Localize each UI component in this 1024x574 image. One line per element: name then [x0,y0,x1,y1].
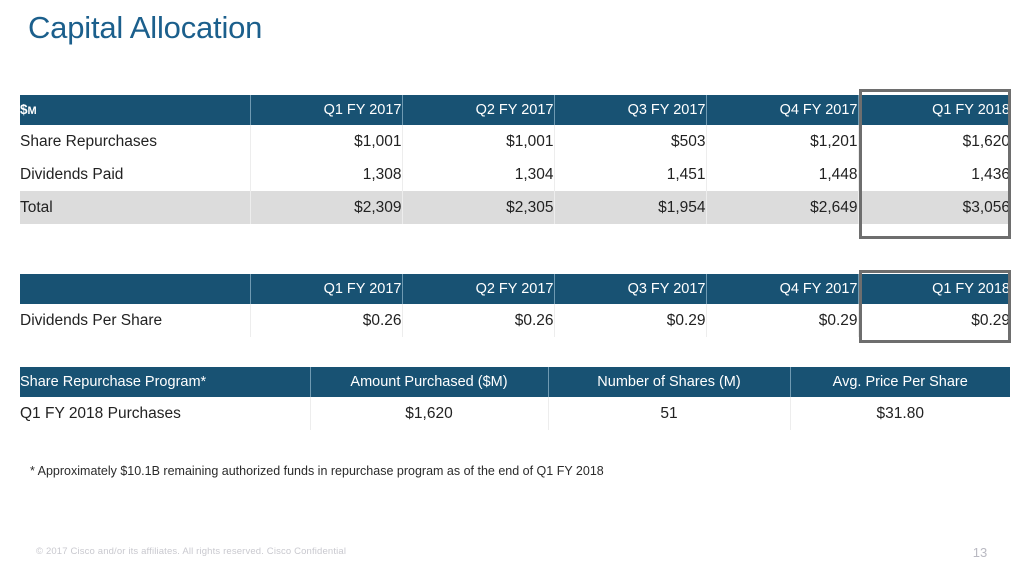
row-label-total: Total [20,191,250,224]
column-header-dps-q3-fy-2017: Q3 FY 2017 [554,274,706,304]
unit-currency: $ [20,102,28,117]
column-header-dps-q2-fy-2017: Q2 FY 2017 [402,274,554,304]
footnote-text: * Approximately $10.1B remaining authori… [30,464,604,478]
column-header-number-of-shares: Number of Shares (M) [548,367,790,397]
cell-share-repurchases-q1-fy-2018: $1,620 [858,125,1010,158]
footer-copyright: © 2017 Cisco and/or its affiliates. All … [36,546,346,557]
row-label-dividends-per-share: Dividends Per Share [20,304,250,337]
share-repurchase-program-table: Share Repurchase Program* Amount Purchas… [20,367,1010,430]
column-header-avg-price-per-share: Avg. Price Per Share [790,367,1010,397]
page-title: Capital Allocation [28,8,262,48]
column-header-share-repurchase-program: Share Repurchase Program* [20,367,310,397]
table-row: Dividends Per Share $0.26 $0.26 $0.29 $0… [20,304,1010,337]
slide-canvas: Capital Allocation $M Q1 FY 2017 Q2 FY 2… [0,0,1024,574]
cell-dps-q1-fy-2018: $0.29 [858,304,1010,337]
column-header-dps-q1-fy-2018: Q1 FY 2018 [858,274,1010,304]
cell-total-q3-fy-2017: $1,954 [554,191,706,224]
column-header-q2-fy-2017: Q2 FY 2017 [402,95,554,125]
cell-share-repurchases-q2-fy-2017: $1,001 [402,125,554,158]
row-label-share-repurchases: Share Repurchases [20,125,250,158]
table-row: Share Repurchases $1,001 $1,001 $503 $1,… [20,125,1010,158]
table-header-row: Share Repurchase Program* Amount Purchas… [20,367,1010,397]
table-row: Dividends Paid 1,308 1,304 1,451 1,448 1… [20,158,1010,191]
cell-total-q2-fy-2017: $2,305 [402,191,554,224]
cell-amount-purchased: $1,620 [310,397,548,430]
cell-total-q1-fy-2017: $2,309 [250,191,402,224]
table-header-row: Q1 FY 2017 Q2 FY 2017 Q3 FY 2017 Q4 FY 2… [20,274,1010,304]
cell-dividends-paid-q1-fy-2018: 1,436 [858,158,1010,191]
cell-dps-q3-fy-2017: $0.29 [554,304,706,337]
unit-label: $M [20,102,37,117]
cell-number-of-shares: 51 [548,397,790,430]
cell-share-repurchases-q1-fy-2017: $1,001 [250,125,402,158]
footer-page-number: 13 [965,545,995,560]
cell-dps-q4-fy-2017: $0.29 [706,304,858,337]
cell-avg-price-per-share: $31.80 [790,397,1010,430]
dividends-per-share-table: Q1 FY 2017 Q2 FY 2017 Q3 FY 2017 Q4 FY 2… [20,274,1010,337]
table-total-row: Total $2,309 $2,305 $1,954 $2,649 $3,056 [20,191,1010,224]
cell-share-repurchases-q3-fy-2017: $503 [554,125,706,158]
capital-allocation-table: $M Q1 FY 2017 Q2 FY 2017 Q3 FY 2017 Q4 F… [20,95,1010,224]
cell-total-q4-fy-2017: $2,649 [706,191,858,224]
cell-dividends-paid-q3-fy-2017: 1,451 [554,158,706,191]
column-header-q1-fy-2017: Q1 FY 2017 [250,95,402,125]
table-header-row: $M Q1 FY 2017 Q2 FY 2017 Q3 FY 2017 Q4 F… [20,95,1010,125]
row-label-dividends-paid: Dividends Paid [20,158,250,191]
column-header-blank [20,274,250,304]
table-row: Q1 FY 2018 Purchases $1,620 51 $31.80 [20,397,1010,430]
column-header-q3-fy-2017: Q3 FY 2017 [554,95,706,125]
column-header-unit: $M [20,95,250,125]
cell-dividends-paid-q1-fy-2017: 1,308 [250,158,402,191]
cell-total-q1-fy-2018: $3,056 [858,191,1010,224]
row-label-q1-fy-2018-purchases: Q1 FY 2018 Purchases [20,397,310,430]
cell-dividends-paid-q4-fy-2017: 1,448 [706,158,858,191]
cell-dps-q1-fy-2017: $0.26 [250,304,402,337]
cell-dps-q2-fy-2017: $0.26 [402,304,554,337]
cell-dividends-paid-q2-fy-2017: 1,304 [402,158,554,191]
column-header-amount-purchased: Amount Purchased ($M) [310,367,548,397]
column-header-q1-fy-2018: Q1 FY 2018 [858,95,1010,125]
column-header-q4-fy-2017: Q4 FY 2017 [706,95,858,125]
column-header-dps-q4-fy-2017: Q4 FY 2017 [706,274,858,304]
unit-scale: M [28,105,37,117]
column-header-dps-q1-fy-2017: Q1 FY 2017 [250,274,402,304]
cell-share-repurchases-q4-fy-2017: $1,201 [706,125,858,158]
